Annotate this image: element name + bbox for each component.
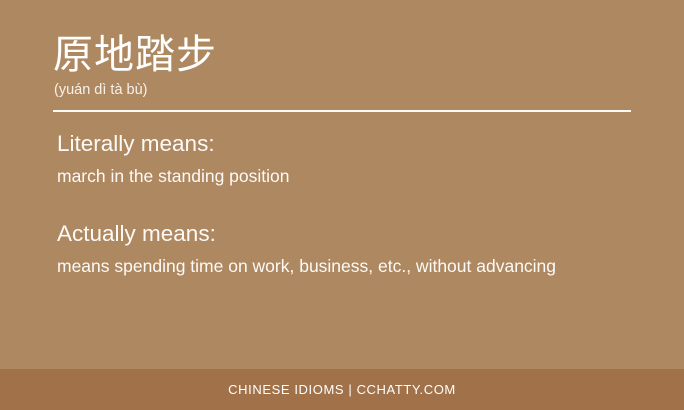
header-divider xyxy=(53,110,631,112)
footer-bar: CHINESE IDIOMS | CCHATTY.COM xyxy=(0,369,684,410)
literal-meaning-section: Literally means: march in the standing p… xyxy=(0,130,684,188)
literal-meaning-text: march in the standing position xyxy=(57,164,684,188)
footer-attribution: CHINESE IDIOMS | CCHATTY.COM xyxy=(228,381,456,399)
idiom-card: 原地踏步 (yuán dì tà bù) Literally means: ma… xyxy=(0,0,684,410)
actual-meaning-text: means spending time on work, business, e… xyxy=(57,254,684,278)
idiom-characters: 原地踏步 xyxy=(53,32,217,78)
actual-meaning-heading: Actually means: xyxy=(57,220,684,248)
idiom-pinyin: (yuán dì tà bù) xyxy=(54,80,148,100)
literal-meaning-heading: Literally means: xyxy=(57,130,684,158)
actual-meaning-section: Actually means: means spending time on w… xyxy=(0,220,684,278)
